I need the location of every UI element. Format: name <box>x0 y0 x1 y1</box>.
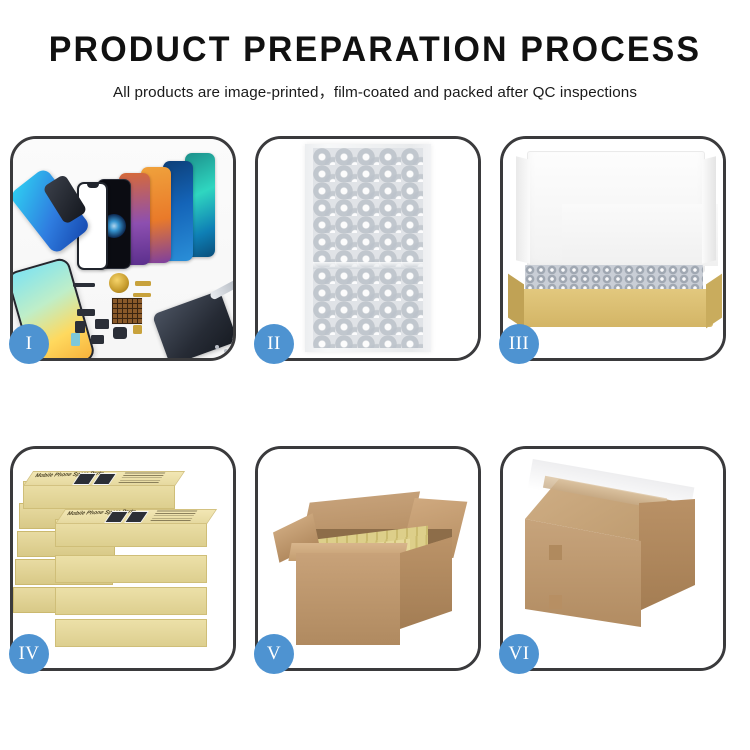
spare-parts-group <box>73 279 233 358</box>
box-spec-lines <box>118 472 165 483</box>
flex-cable-part <box>73 283 95 287</box>
step-badge-1: I <box>9 324 49 364</box>
process-step-6: VI <box>500 446 726 671</box>
step-4-image: Mobile Phone Spare Parts Mobile Phone Sp… <box>13 449 233 668</box>
sensor-part <box>91 335 104 344</box>
page-header: PRODUCT PREPARATION PROCESS All products… <box>0 0 750 102</box>
bubble-wrap-sheet <box>305 144 431 352</box>
step-badge-2: II <box>254 324 294 364</box>
step-3-image <box>503 139 723 358</box>
carton-front-face <box>296 553 400 645</box>
step-5-image <box>258 449 478 668</box>
camera-module-part <box>77 309 95 316</box>
step-2-image <box>258 139 478 358</box>
bubble-wrap-seam <box>313 262 423 269</box>
process-step-2: II <box>255 136 481 361</box>
button-flex-part <box>133 293 151 297</box>
stacked-box <box>55 555 207 583</box>
flat-box-lid <box>527 151 705 273</box>
stacked-box <box>55 619 207 647</box>
chip-board-part <box>111 297 143 325</box>
phone-screen-fan-icon <box>91 151 233 271</box>
stacked-box <box>55 587 207 615</box>
carton-flap-tab <box>549 545 562 560</box>
process-step-grid: I II III <box>10 136 740 671</box>
box-spec-lines <box>150 510 197 521</box>
screw-icon <box>231 345 233 349</box>
screw-icon <box>224 349 228 353</box>
sim-tray-part <box>71 333 80 346</box>
foam-insert <box>562 204 718 266</box>
front-box-stack: Mobile Phone Spare Parts Mobile Phone Sp… <box>15 467 233 657</box>
bubble-grid <box>313 148 423 348</box>
product-preparation-page: PRODUCT PREPARATION PROCESS All products… <box>0 0 750 750</box>
earpiece-part <box>113 327 127 339</box>
step-badge-5: V <box>254 634 294 674</box>
screw-plate-part <box>133 325 142 334</box>
screws-group <box>215 345 233 358</box>
step-badge-3: III <box>499 324 539 364</box>
process-step-3: III <box>500 136 726 361</box>
printed-box-second: Mobile Phone Spare Parts <box>55 519 207 547</box>
flat-box-body <box>517 289 713 327</box>
carton-side-face <box>400 537 452 629</box>
connector-part <box>135 281 151 286</box>
bubble-wrapped-contents <box>525 265 703 291</box>
carton-side-face <box>639 499 695 617</box>
step-6-image <box>503 449 723 668</box>
speaker-part-icon <box>109 273 129 293</box>
sealed-carton <box>525 479 709 641</box>
process-step-5: V <box>255 446 481 671</box>
open-carton <box>284 493 456 649</box>
process-step-4: Mobile Phone Spare Parts Mobile Phone Sp… <box>10 446 236 671</box>
step-1-image <box>13 139 233 358</box>
process-step-1: I <box>10 136 236 361</box>
printed-box-top: Mobile Phone Spare Parts <box>23 481 175 509</box>
carton-flap-tab <box>549 595 562 609</box>
page-title: PRODUCT PREPARATION PROCESS <box>11 32 739 69</box>
small-bracket-part <box>75 321 85 333</box>
step-badge-4: IV <box>9 634 49 674</box>
step-badge-6: VI <box>499 634 539 674</box>
screw-icon <box>215 345 219 349</box>
vibrator-part <box>95 319 109 329</box>
page-subtitle: All products are image-printed，film-coat… <box>0 80 750 102</box>
